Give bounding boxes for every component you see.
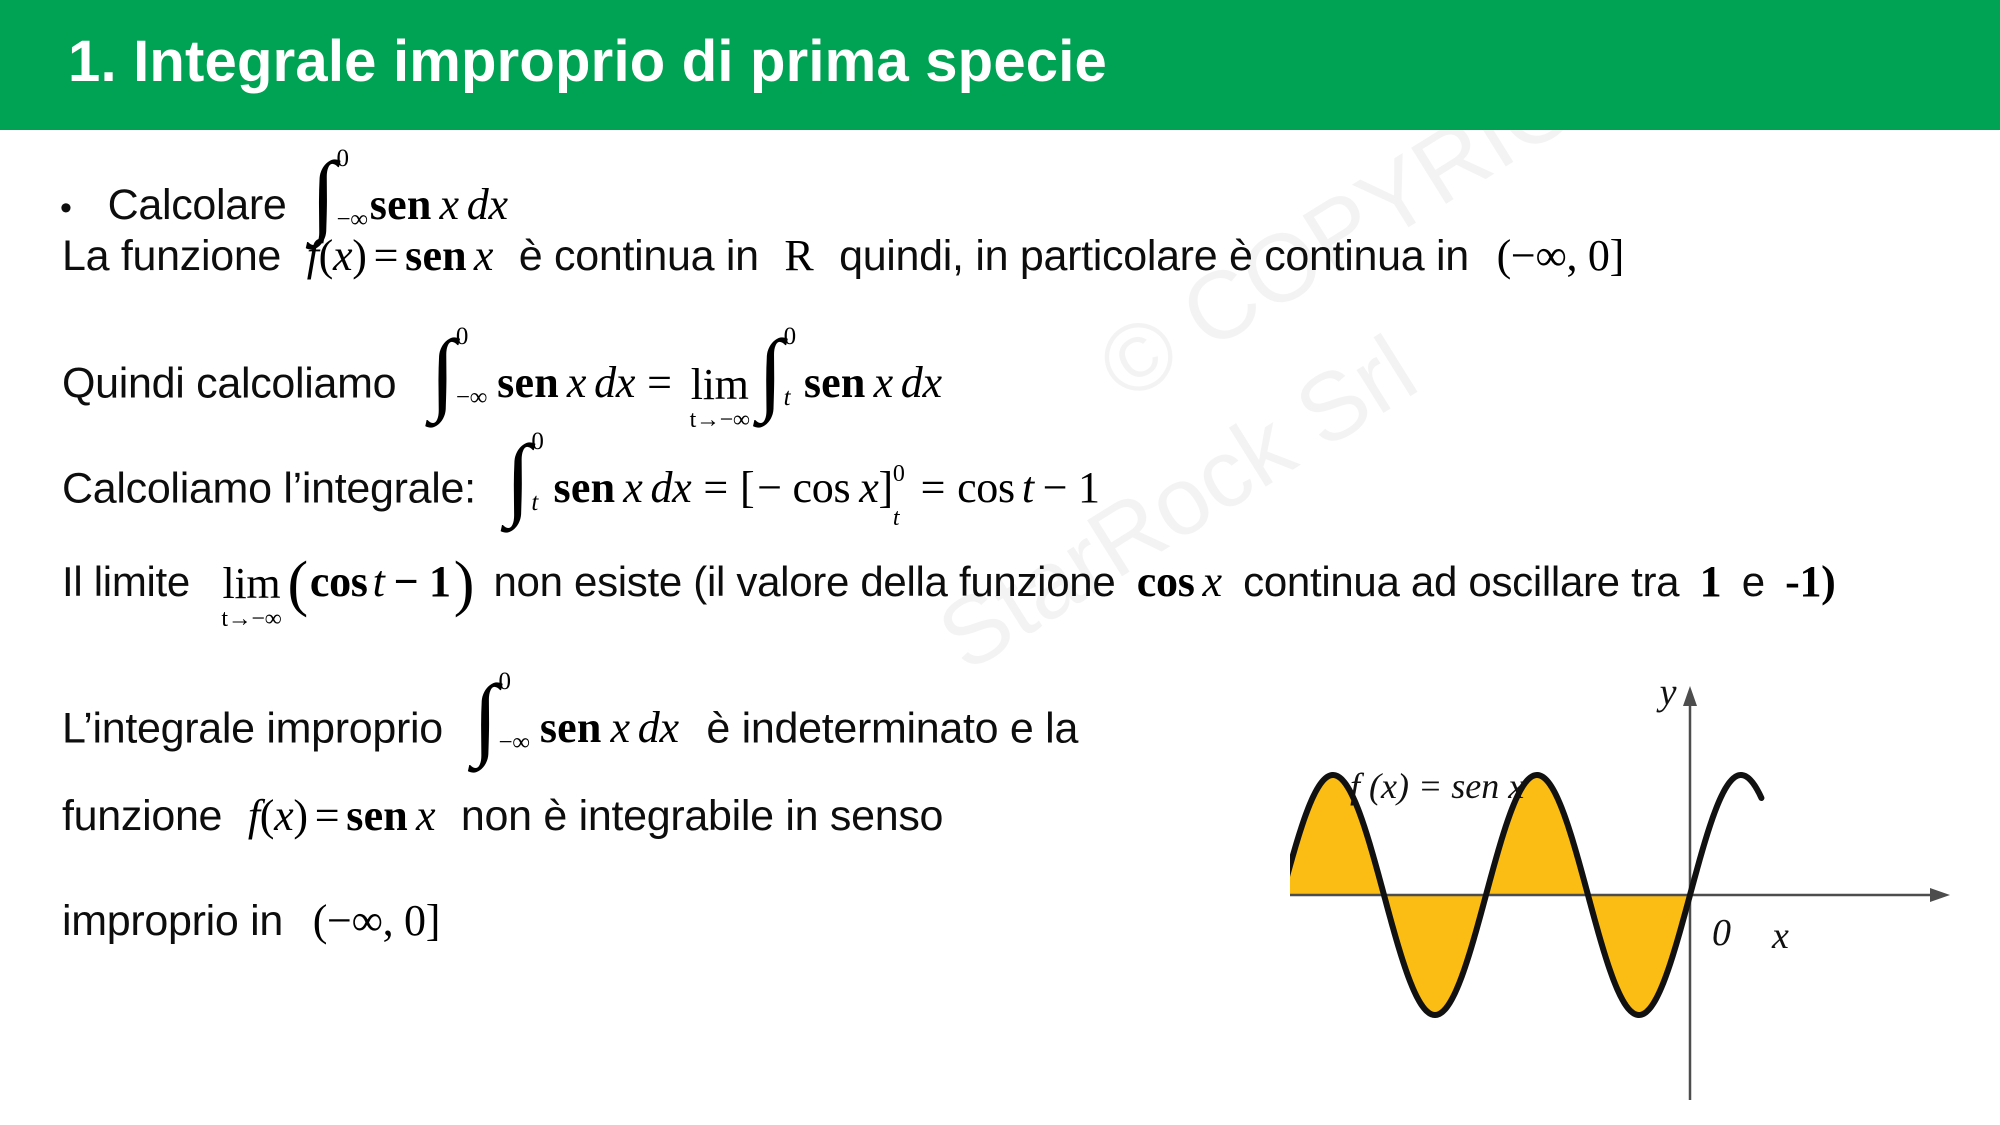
text-la-funzione: La funzione <box>62 232 281 280</box>
origin-label: 0 <box>1712 912 1731 954</box>
bracket-close: ] <box>879 462 893 513</box>
variable-t: t <box>1022 462 1034 513</box>
integral-glyph: ∫ <box>758 344 783 401</box>
text-improprio-in: improprio in <box>62 897 283 945</box>
x-axis-label: x <box>1771 915 1789 957</box>
bullet-marker: • <box>60 191 72 225</box>
integral-glyph: ∫ <box>505 449 530 506</box>
sen-operator: sen <box>540 702 602 753</box>
formula-f-x-eq-sen-x: f ( x ) = sen x <box>248 790 435 841</box>
integral-symbol: ∫ 0 −∞ <box>473 675 530 749</box>
variable-x: x <box>623 462 642 513</box>
variable-x: x <box>567 357 586 408</box>
text-indeterminato: è indeterminato e la <box>706 704 1078 752</box>
variable-x: x <box>416 790 435 841</box>
y-axis-arrowhead <box>1683 686 1697 706</box>
paren-open: ( <box>319 230 333 281</box>
integral-limits: 0 −∞ <box>456 330 487 404</box>
sen-operator: sen <box>554 462 616 513</box>
limit-operator: lim t→−∞ <box>690 363 750 432</box>
cos-operator: cos <box>957 462 1015 513</box>
variable-x: x <box>440 179 459 230</box>
line-funzione-non-integrabile: funzione f ( x ) = sen x non è integrabi… <box>62 790 943 841</box>
integral-upper-limit: 0 <box>336 146 367 171</box>
slide-header-band: 1. Integrale improprio di prima specie <box>0 0 2000 130</box>
lim-label: lim <box>223 562 281 606</box>
paren-close: ) <box>352 230 366 281</box>
differential-dx: dx <box>638 702 679 753</box>
arg-x: x <box>274 790 293 841</box>
text-integrale-improprio: L’integrale improprio <box>62 704 443 752</box>
line-il-limite: Il limite lim t→−∞ ( cos t − 1 ) non esi… <box>62 555 1836 629</box>
bullet-item-calcolare: • Calcolare ∫ 0 −∞ sen x dx <box>60 152 508 230</box>
paren-close: ) <box>293 790 307 841</box>
paren-open: ( <box>260 790 274 841</box>
integral-glyph: ∫ <box>473 689 498 746</box>
differential-dx: dx <box>901 357 942 408</box>
equals-sign: = <box>374 230 399 281</box>
paren-close-big: ) <box>454 563 474 606</box>
interval-neg-inf-zero: (−∞, 0] <box>1497 230 1624 281</box>
line-integrale-improprio: L’integrale improprio ∫ 0 −∞ sen x dx è … <box>62 675 1078 753</box>
cos-operator: cos <box>310 556 368 607</box>
function-f: f <box>248 790 260 841</box>
integral-glyph: ∫ <box>430 344 455 401</box>
integral-upper-limit: 0 <box>456 324 487 349</box>
minus-cos: − cos <box>757 462 850 513</box>
bracket-open: [ <box>740 462 754 513</box>
integral-lower-limit: t <box>784 385 796 410</box>
sen-operator: sen <box>804 357 866 408</box>
integral-lower-limit: −∞ <box>498 730 529 755</box>
sen-operator: sen <box>497 357 559 408</box>
text-non-esiste: non esiste (il valore della funzione <box>493 558 1115 605</box>
formula-limit-cos-t-minus-1: lim t→−∞ ( cos t − 1 ) <box>215 555 474 629</box>
integral-limits: 0 t <box>784 330 796 404</box>
formula-integral-sen-x-dx: ∫ 0 −∞ sen x dx <box>309 152 508 230</box>
symbol-real-set: R <box>784 230 813 281</box>
arg-x: x <box>333 230 352 281</box>
text-continua-oscillare: continua ad oscillare tra <box>1243 558 1679 605</box>
integral-upper-limit: 0 <box>784 324 796 349</box>
line-la-funzione: La funzione f ( x ) = sen x è continua i… <box>62 230 1624 281</box>
minus-one: − 1 <box>1043 462 1100 513</box>
differential-dx: dx <box>650 462 691 513</box>
interval-neg-inf-zero: (−∞, 0] <box>313 895 440 946</box>
function-f: f <box>307 230 319 281</box>
line-quindi-calcoliamo: Quindi calcoliamo ∫ 0 −∞ sen x dx = lim … <box>62 330 942 430</box>
value-one: 1 <box>1700 556 1722 607</box>
bullet-text: Calcolare <box>108 181 287 230</box>
variable-x: x <box>611 702 630 753</box>
integral-symbol-first: ∫ 0 −∞ <box>430 330 487 404</box>
bracket-upper-limit: 0 <box>893 462 905 487</box>
formula-f-x-eq-sen-x: f ( x ) = sen x <box>307 230 493 281</box>
equals-sign: = <box>315 790 340 841</box>
formula-limit-integral: ∫ 0 −∞ sen x dx = lim t→−∞ ∫ 0 t se <box>428 330 942 430</box>
x-axis-arrowhead <box>1930 888 1950 902</box>
formula-integral-sen: ∫ 0 −∞ sen x dx <box>471 675 679 753</box>
variable-x: x <box>874 357 893 408</box>
sine-function-graph: y 0 x f (x) = sen x <box>1290 680 1990 1110</box>
text-quindi-calcoliamo: Quindi calcoliamo <box>62 359 396 407</box>
integral-upper-limit: 0 <box>531 429 543 454</box>
cos-operator-bold: cos <box>1137 556 1195 607</box>
page-title: 1. Integrale improprio di prima specie <box>68 28 1107 95</box>
paren-open-big: ( <box>287 563 307 606</box>
line-calcoliamo-integrale: Calcoliamo l’integrale: ∫ 0 t sen x dx =… <box>62 435 1100 513</box>
lim-subscript: t→−∞ <box>221 607 281 631</box>
text-conjunction-e: e <box>1742 558 1765 605</box>
differential-dx: dx <box>467 179 508 230</box>
text-calcoliamo-integrale: Calcoliamo l’integrale: <box>62 464 476 512</box>
integral-symbol: ∫ 0 t <box>505 435 543 509</box>
differential-dx: dx <box>594 357 635 408</box>
integral-limits: 0 −∞ <box>498 675 529 749</box>
integral-lower-limit: t <box>531 490 543 515</box>
graph-svg: y 0 x f (x) = sen x <box>1290 680 1990 1110</box>
minus-one: − 1 <box>394 556 451 607</box>
text-il-limite: Il limite <box>62 558 190 605</box>
integral-symbol: ∫ 0 −∞ <box>311 152 368 226</box>
variable-x: x <box>474 230 493 281</box>
text-non-integrabile: non è integrabile in senso <box>461 792 943 840</box>
integral-upper-limit: 0 <box>498 669 529 694</box>
bracket-variable-x: x <box>859 462 878 513</box>
bracket-limits: 0 t <box>893 464 905 514</box>
evaluation-bracket: [ − cos x ] 0 t <box>740 462 905 513</box>
formula-antiderivative: ∫ 0 t sen x dx = [ − cos x ] 0 t = <box>503 435 1099 513</box>
limit-operator: lim t→−∞ <box>221 562 281 631</box>
integral-limits: 0 −∞ <box>336 152 367 226</box>
text-e-continua-in: è continua in <box>519 232 759 280</box>
bracket-lower-limit: t <box>893 506 905 531</box>
text-funzione: funzione <box>62 792 222 840</box>
integral-limits: 0 t <box>531 435 543 509</box>
sen-operator: sen <box>346 790 408 841</box>
formula-cos-x: cos x <box>1137 556 1222 607</box>
equals-sign-1: = <box>703 462 728 513</box>
text-quindi-in-particolare: quindi, in particolare è continua in <box>839 232 1469 280</box>
integral-glyph: ∫ <box>311 166 336 223</box>
sen-operator: sen <box>370 179 432 230</box>
integral-symbol-second: ∫ 0 t <box>758 330 796 404</box>
lim-label: lim <box>691 363 749 407</box>
sen-operator: sen <box>405 230 467 281</box>
equals-sign-2: = <box>921 462 946 513</box>
line-improprio-in: improprio in (−∞, 0] <box>62 895 440 946</box>
variable-t: t <box>373 556 385 607</box>
integral-lower-limit: −∞ <box>456 385 487 410</box>
variable-x: x <box>1203 556 1222 607</box>
value-minus-one: -1) <box>1785 556 1835 607</box>
equals-sign: = <box>647 357 672 408</box>
integral-lower-limit: −∞ <box>336 207 367 232</box>
lim-subscript: t→−∞ <box>690 408 750 432</box>
y-axis-label: y <box>1656 680 1677 713</box>
function-label: f (x) = sen x <box>1350 766 1524 806</box>
